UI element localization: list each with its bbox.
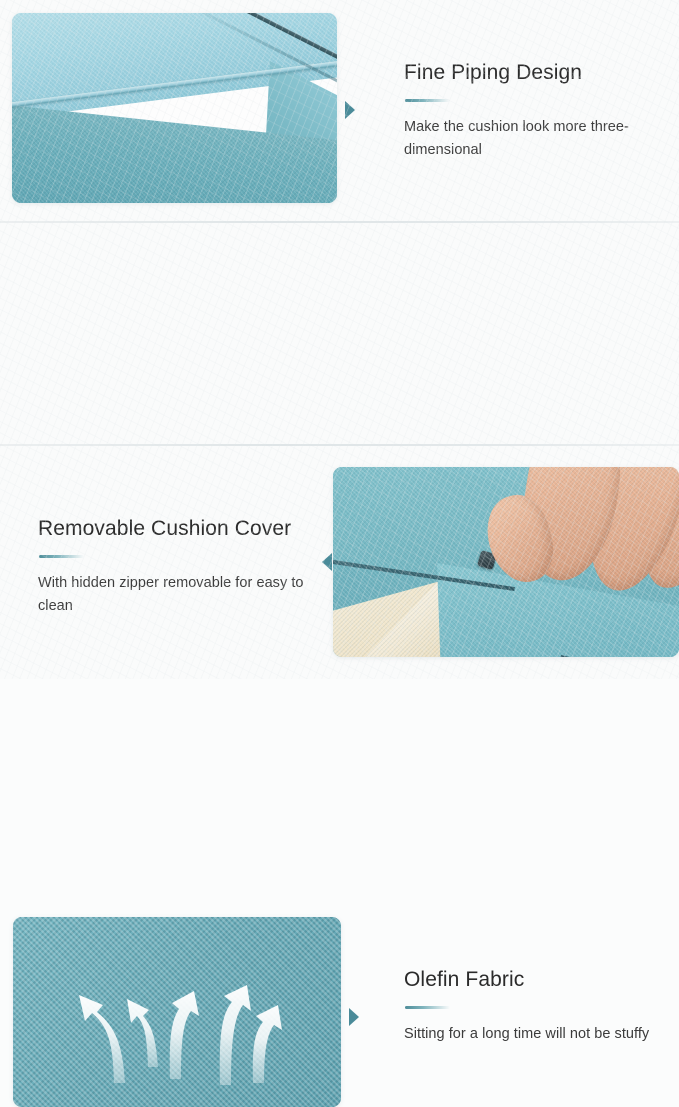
triangle-right-icon [349, 1008, 359, 1026]
panel-divider [0, 444, 679, 446]
airflow-arrows-icon [13, 917, 341, 1107]
triangle-right-icon [345, 101, 355, 119]
olefin-fabric-swatch [13, 917, 341, 1107]
panel-heading: Fine Piping Design [404, 60, 662, 86]
product-feature-infographic: Fine Piping Design Make the cushion look… [0, 0, 679, 679]
feature-text-fine-piping: Fine Piping Design Make the cushion look… [404, 60, 662, 161]
breathable-fabric-photo [13, 917, 341, 1107]
feature-panel-removable-cover: Removable Cushion Cover With hidden zipp… [0, 223, 679, 445]
panel-heading: Olefin Fabric [404, 967, 662, 993]
accent-rule [405, 99, 450, 102]
panel-body: Make the cushion look more three-dimensi… [404, 116, 662, 161]
panel-body: Sitting for a long time will not be stuf… [404, 1023, 662, 1045]
panel-divider [0, 221, 679, 223]
cushion-illustration [12, 13, 337, 203]
triangle-left-icon [322, 553, 332, 571]
accent-rule [405, 1006, 450, 1009]
feature-text-olefin-fabric: Olefin Fabric Sitting for a long time wi… [404, 967, 662, 1046]
cushion-corner-photo [12, 13, 337, 203]
feature-panel-fine-piping: Fine Piping Design Make the cushion look… [0, 0, 679, 222]
feature-panel-olefin-fabric: Olefin Fabric Sitting for a long time wi… [0, 446, 679, 679]
